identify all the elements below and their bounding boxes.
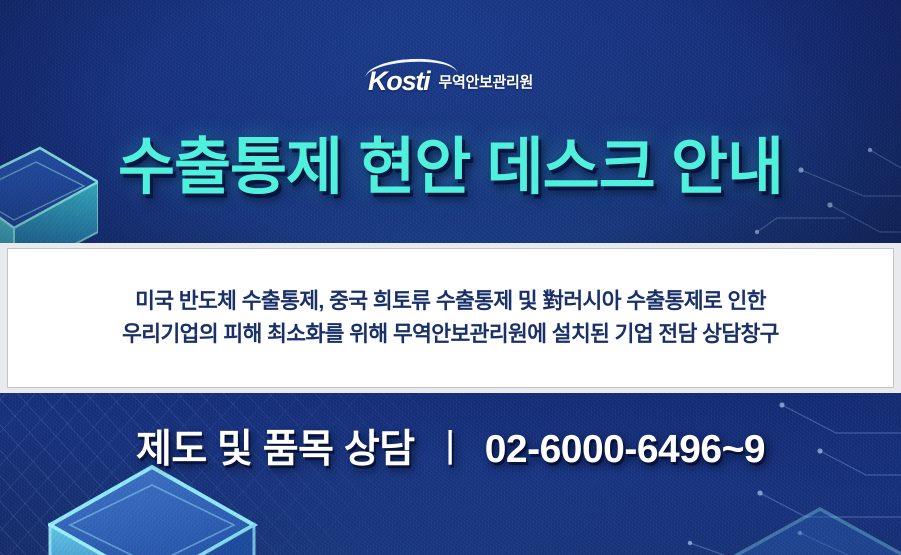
- circuit-trace-pattern-icon: [0, 0, 901, 243]
- glass-chip-cube-right-icon: [706, 505, 901, 555]
- contact-label: 제도 및 품목 상담: [136, 428, 415, 471]
- logo-mark: Kosti: [368, 66, 430, 95]
- description-line-2: 우리기업의 피해 최소화를 위해 무역안보관리원에 설치된 기업 전담 상담창구: [122, 322, 779, 347]
- description-line-1: 미국 반도체 수출통제, 중국 희토류 수출통제 및 對러시아 수출통제로 인한: [135, 289, 766, 314]
- brand-logo: Kosti 무역안보관리원: [0, 66, 901, 95]
- top-banner: Kosti 무역안보관리원 수출통제 현안 데스크 안내: [0, 0, 901, 243]
- page-title: 수출통제 현안 데스크 안내: [0, 137, 901, 199]
- description-panel: 미국 반도체 수출통제, 중국 희토류 수출통제 및 對러시아 수출통제로 인한…: [7, 248, 894, 388]
- contact-phone-number: 02-6000-6496~9: [485, 428, 765, 471]
- contact-separator: ㅣ: [425, 428, 474, 471]
- glass-chip-cube-icon: [48, 463, 258, 555]
- description-panel-frame: 미국 반도체 수출통제, 중국 희토류 수출통제 및 對러시아 수출통제로 인한…: [0, 243, 901, 393]
- contact-line: 제도 및 품목 상담 ㅣ 02-6000-6496~9: [0, 418, 901, 474]
- export-control-desk-poster: Kosti 무역안보관리원 수출통제 현안 데스크 안내 미국 반도체 수출통제…: [0, 0, 901, 555]
